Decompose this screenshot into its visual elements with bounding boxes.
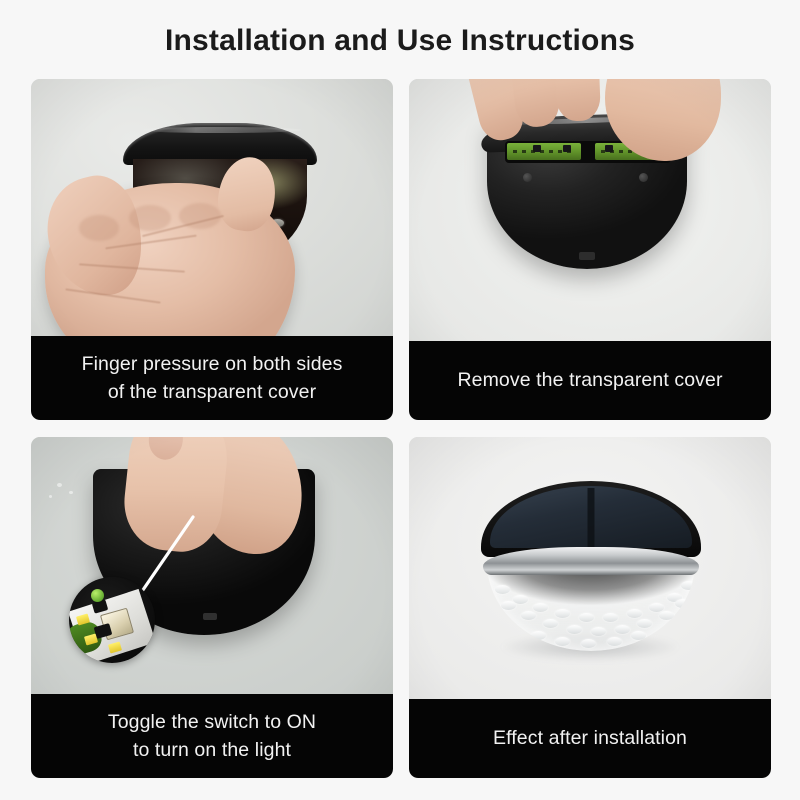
steps-grid: Finger pressure on both sides of the tra…: [31, 79, 771, 786]
caption-line: Remove the transparent cover: [417, 366, 763, 394]
caption-line: to turn on the light: [39, 736, 385, 764]
step-1-caption: Finger pressure on both sides of the tra…: [31, 336, 393, 420]
caption-line: Effect after installation: [417, 724, 763, 752]
instruction-sheet: Installation and Use Instructions: [0, 0, 800, 800]
step-3-caption: Toggle the switch to ON to turn on the l…: [31, 694, 393, 778]
step-panel-2[interactable]: Remove the transparent cover: [409, 79, 771, 420]
chrome-trim-ring: [483, 547, 699, 575]
page-title: Installation and Use Instructions: [0, 24, 800, 58]
caption-line: Toggle the switch to ON: [39, 708, 385, 736]
step-panel-3[interactable]: Toggle the switch to ON to turn on the l…: [31, 437, 393, 778]
step-2-caption: Remove the transparent cover: [409, 341, 771, 420]
step-panel-4[interactable]: Effect after installation: [409, 437, 771, 778]
caption-line: Finger pressure on both sides: [39, 350, 385, 378]
step-panel-1[interactable]: Finger pressure on both sides of the tra…: [31, 79, 393, 420]
caption-line: of the transparent cover: [39, 378, 385, 406]
step-4-caption: Effect after installation: [409, 699, 771, 778]
